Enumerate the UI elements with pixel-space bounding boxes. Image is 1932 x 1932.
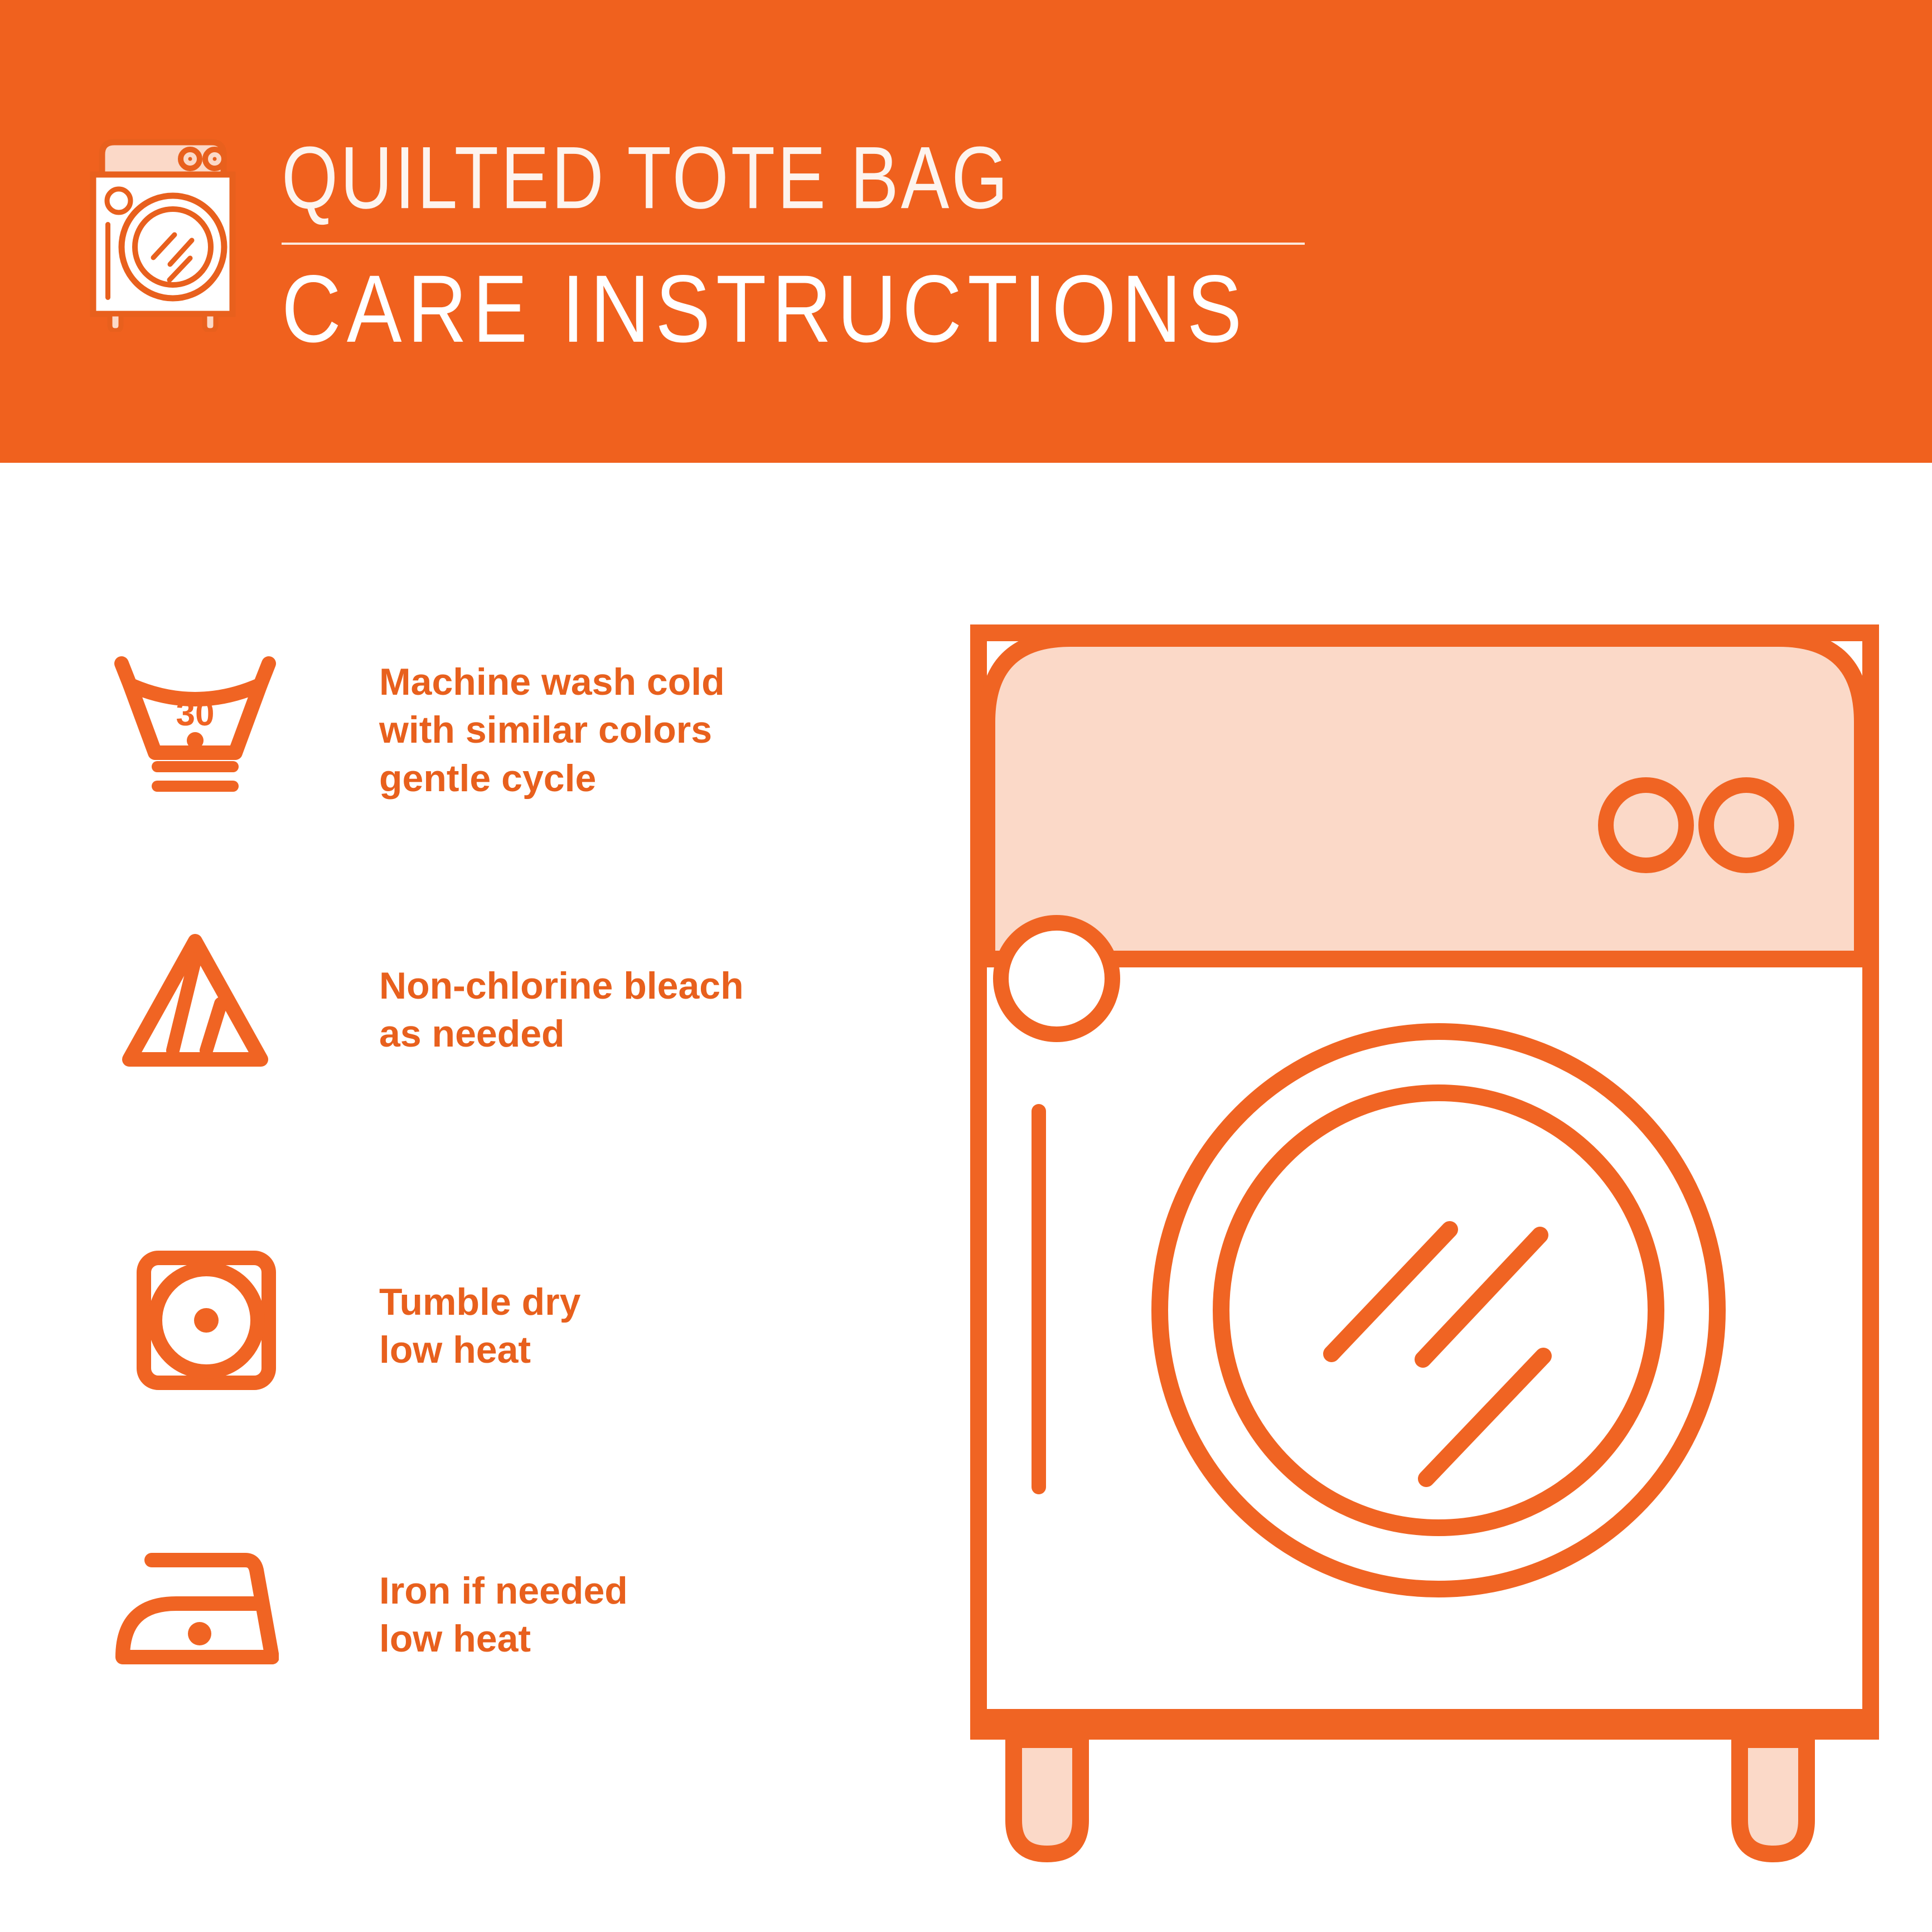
wash-temperature-value: 30 bbox=[176, 695, 215, 733]
list-item-label: Iron if needed low heat bbox=[307, 1528, 628, 1663]
title-divider bbox=[282, 243, 1305, 245]
content-area: 30 Machine wash cold with similar colors… bbox=[0, 463, 1932, 1932]
list-item-label: Tumble dry low heat bbox=[307, 1243, 580, 1374]
page-subtitle: CARE INSTRUCTIONS bbox=[282, 262, 1305, 357]
header-title-group: QUILTED TOTE BAG CARE INSTRUCTIONS bbox=[282, 131, 1305, 344]
list-item: 30 Machine wash cold with similar colors… bbox=[84, 647, 931, 803]
washing-machine-icon bbox=[81, 131, 248, 332]
tumble-dry-low-heat-icon bbox=[84, 1243, 307, 1400]
front-load-washing-machine-illustration bbox=[948, 602, 1932, 1873]
page-title: QUILTED TOTE BAG bbox=[282, 133, 1305, 222]
list-item-label: Non-chlorine bleach as needed bbox=[307, 920, 744, 1058]
list-item-label: Machine wash cold with similar colors ge… bbox=[307, 647, 725, 802]
list-item: Tumble dry low heat bbox=[84, 1243, 931, 1400]
header-banner: QUILTED TOTE BAG CARE INSTRUCTIONS bbox=[0, 0, 1932, 463]
triangle-non-chlorine-bleach-icon bbox=[84, 920, 307, 1076]
list-item: Iron if needed low heat bbox=[84, 1528, 931, 1684]
list-item: Non-chlorine bleach as needed bbox=[84, 920, 931, 1076]
iron-low-heat-icon bbox=[84, 1528, 307, 1684]
header-content: QUILTED TOTE BAG CARE INSTRUCTIONS bbox=[81, 131, 1305, 344]
wash-tub-30-gentle-icon: 30 bbox=[84, 647, 307, 803]
